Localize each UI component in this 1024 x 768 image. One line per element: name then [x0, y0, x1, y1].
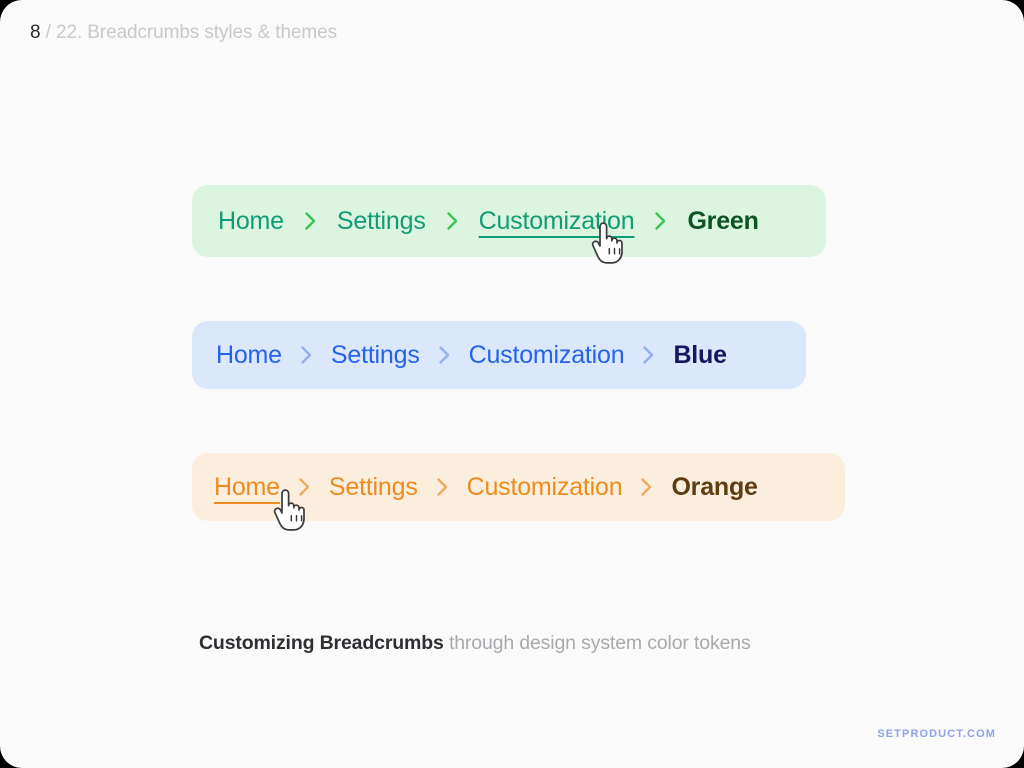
caption-light: through design system color tokens	[444, 632, 751, 654]
breadcrumb-link-settings-green[interactable]: Settings	[337, 209, 426, 234]
breadcrumb-current-green: Green	[687, 209, 758, 234]
breadcrumb-bar-green: Home Settings Customization Green	[192, 185, 826, 257]
breadcrumb-bar-blue: Home Settings Customization Blue	[192, 321, 806, 389]
chevron-right-icon	[438, 345, 451, 365]
chevron-right-icon	[304, 211, 317, 231]
page-title: / 22. Breadcrumbs styles & themes	[40, 22, 337, 43]
slide-canvas: 8 / 22. Breadcrumbs styles & themes Home…	[0, 0, 1024, 768]
breadcrumb-bar-orange: Home Settings Customization Orange	[192, 453, 845, 521]
chevron-right-icon	[642, 345, 655, 365]
breadcrumb-link-settings-orange[interactable]: Settings	[329, 475, 418, 500]
breadcrumb-link-home-blue[interactable]: Home	[216, 343, 282, 368]
chevron-right-icon	[654, 211, 667, 231]
chevron-right-icon	[298, 477, 311, 497]
breadcrumb-link-settings-blue[interactable]: Settings	[331, 343, 420, 368]
slide-number: 8	[30, 22, 40, 43]
chevron-right-icon	[300, 345, 313, 365]
chevron-right-icon	[446, 211, 459, 231]
chevron-right-icon	[640, 477, 653, 497]
breadcrumb-link-home-orange[interactable]: Home	[214, 475, 280, 500]
breadcrumb-link-home-green[interactable]: Home	[218, 209, 284, 234]
breadcrumb-link-customization-blue[interactable]: Customization	[469, 343, 625, 368]
slide-caption: Customizing Breadcrumbs through design s…	[199, 632, 751, 655]
breadcrumb-current-orange: Orange	[671, 475, 757, 500]
caption-strong: Customizing Breadcrumbs	[199, 632, 444, 654]
footer-watermark: SETPRODUCT.COM	[877, 728, 996, 740]
breadcrumb-link-customization-green[interactable]: Customization	[479, 209, 635, 234]
slide-header: 8 / 22. Breadcrumbs styles & themes	[30, 22, 337, 44]
breadcrumb-link-customization-orange[interactable]: Customization	[467, 475, 623, 500]
breadcrumb-current-blue: Blue	[673, 343, 726, 368]
chevron-right-icon	[436, 477, 449, 497]
